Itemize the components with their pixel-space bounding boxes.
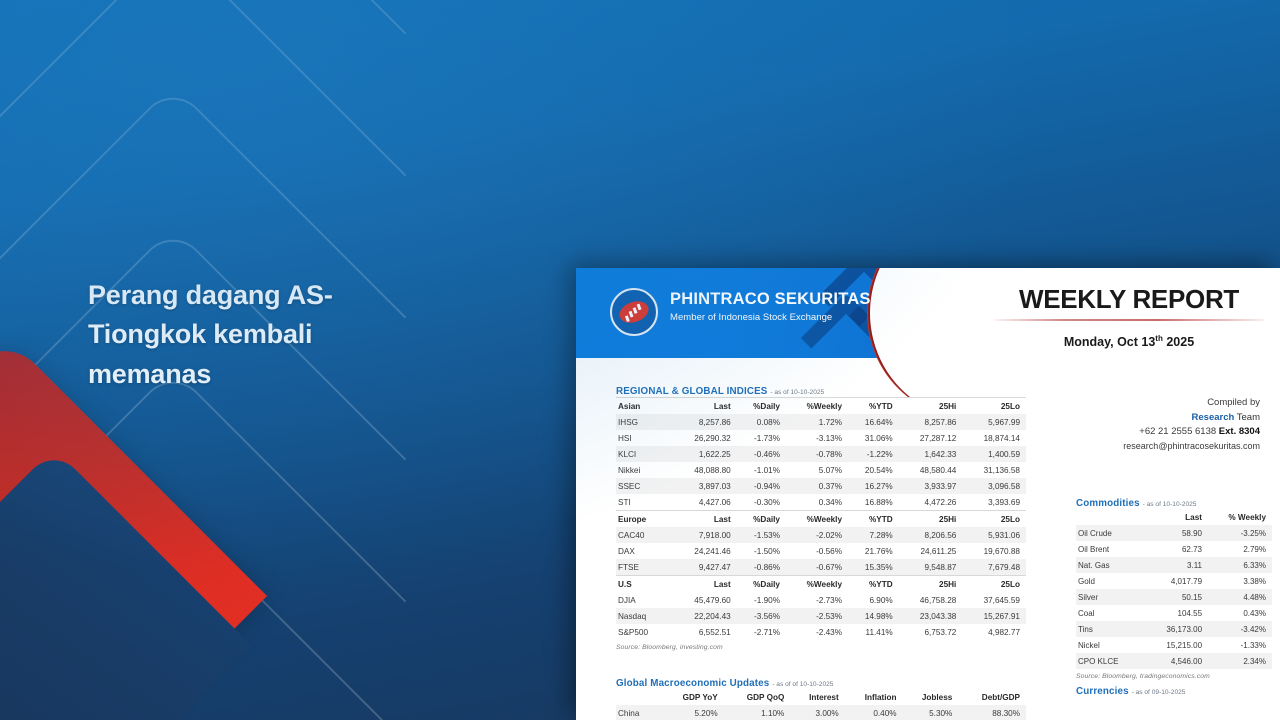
column-header: 25Hi bbox=[899, 576, 963, 593]
table-row: CPO KLCE4,546.002.34% bbox=[1076, 653, 1272, 669]
brand-block: PHINTRACO SEKURITAS Member of Indonesia … bbox=[670, 290, 871, 323]
cell-value: 1.10% bbox=[724, 705, 791, 720]
cell-value: 6.90% bbox=[848, 592, 899, 608]
macro-section-title: Global Macroeconomic Updates - as of of … bbox=[616, 678, 1026, 689]
column-header: U.S bbox=[616, 576, 673, 593]
column-header: Jobless bbox=[903, 689, 959, 705]
cell-value: 5,967.99 bbox=[962, 414, 1026, 430]
column-header bbox=[616, 689, 661, 705]
row-label: S&P500 bbox=[616, 624, 673, 640]
column-header: %Daily bbox=[737, 398, 786, 415]
row-label: CPO KLCE bbox=[1076, 653, 1147, 669]
indices-table: AsianLast%Daily%Weekly%YTD25Hi25LoIHSG8,… bbox=[616, 397, 1026, 640]
indices-section-title: REGIONAL & GLOBAL INDICES - as of 10-10-… bbox=[616, 386, 1026, 397]
cell-value: 45,479.60 bbox=[673, 592, 737, 608]
column-header: %Weekly bbox=[786, 398, 848, 415]
column-header: Last bbox=[673, 576, 737, 593]
commodities-table: Last% WeeklyOil Crude58.90-3.25%Oil Bren… bbox=[1076, 509, 1272, 669]
column-header: Last bbox=[673, 511, 737, 528]
cell-value: 7,918.00 bbox=[673, 527, 737, 543]
cell-value: 37,645.59 bbox=[962, 592, 1026, 608]
cell-value: -1.01% bbox=[737, 462, 786, 478]
cell-value: 1,622.25 bbox=[673, 446, 737, 462]
cell-value: -0.67% bbox=[786, 559, 848, 576]
column-header: Last bbox=[1147, 509, 1208, 525]
phone-number: +62 21 2555 6138 bbox=[1139, 426, 1216, 437]
cell-value: 9,427.47 bbox=[673, 559, 737, 576]
cell-value: 58.90 bbox=[1147, 525, 1208, 541]
cell-value: -2.71% bbox=[737, 624, 786, 640]
slide-canvas: Perang dagang AS-Tiongkok kembali memana… bbox=[0, 0, 1280, 720]
macro-section: Global Macroeconomic Updates - as of of … bbox=[616, 678, 1026, 720]
column-header: %Daily bbox=[737, 576, 786, 593]
cell-value: 104.55 bbox=[1147, 605, 1208, 621]
cell-value: -1.73% bbox=[737, 430, 786, 446]
team-label: Team bbox=[1237, 412, 1260, 423]
cell-value: 0.37% bbox=[786, 478, 848, 494]
column-header: Asian bbox=[616, 398, 673, 415]
cell-value: 46,758.28 bbox=[899, 592, 963, 608]
cell-value: -0.56% bbox=[786, 543, 848, 559]
cell-value: 31,136.58 bbox=[962, 462, 1026, 478]
cell-value: 31.06% bbox=[848, 430, 899, 446]
cell-value: 48,580.44 bbox=[899, 462, 963, 478]
cell-value: 19,670.88 bbox=[962, 543, 1026, 559]
cell-value: 88.30% bbox=[958, 705, 1026, 720]
cell-value: 18,874.14 bbox=[962, 430, 1026, 446]
row-label: Silver bbox=[1076, 589, 1147, 605]
row-label: Nat. Gas bbox=[1076, 557, 1147, 573]
row-label: CAC40 bbox=[616, 527, 673, 543]
commodities-section-title: Commodities - as of 10-10-2025 bbox=[1076, 498, 1272, 509]
cell-value: -2.43% bbox=[786, 624, 848, 640]
cell-value: 4,472.26 bbox=[899, 494, 963, 511]
cell-value: 14.98% bbox=[848, 608, 899, 624]
table-row: DJIA45,479.60-1.90%-2.73%6.90%46,758.283… bbox=[616, 592, 1026, 608]
cell-value: -0.46% bbox=[737, 446, 786, 462]
table-row: Oil Brent62.732.79% bbox=[1076, 541, 1272, 557]
macro-as-of: - as of of 10-10-2025 bbox=[772, 681, 833, 688]
column-header: %Daily bbox=[737, 511, 786, 528]
cell-value: 50.15 bbox=[1147, 589, 1208, 605]
cell-value: -1.22% bbox=[848, 446, 899, 462]
cell-value: 15,267.91 bbox=[962, 608, 1026, 624]
cell-value: -2.53% bbox=[786, 608, 848, 624]
currencies-title-text: Currencies bbox=[1076, 686, 1129, 697]
currencies-section-title: Currencies - as of 09-10-2025 bbox=[1076, 686, 1272, 697]
ext-value: 8304 bbox=[1239, 426, 1260, 437]
cell-value: 3.38% bbox=[1208, 573, 1272, 589]
cell-value: 8,206.56 bbox=[899, 527, 963, 543]
cell-value: 11.41% bbox=[848, 624, 899, 640]
cell-value: 24,611.25 bbox=[899, 543, 963, 559]
cell-value: 20.54% bbox=[848, 462, 899, 478]
report-title: WEEKLY REPORT bbox=[988, 284, 1270, 315]
cell-value: 0.08% bbox=[737, 414, 786, 430]
cell-value: -0.30% bbox=[737, 494, 786, 511]
commodities-header-row: Last% Weekly bbox=[1076, 509, 1272, 525]
commodities-as-of: - as of 10-10-2025 bbox=[1143, 501, 1197, 508]
cell-value: 4,427.06 bbox=[673, 494, 737, 511]
cell-value: 62.73 bbox=[1147, 541, 1208, 557]
table-row: DAX24,241.46-1.50%-0.56%21.76%24,611.251… bbox=[616, 543, 1026, 559]
cell-value: 3,933.97 bbox=[899, 478, 963, 494]
table-row: STI4,427.06-0.30%0.34%16.88%4,472.263,39… bbox=[616, 494, 1026, 511]
cell-value: 16.27% bbox=[848, 478, 899, 494]
report-date-superscript: th bbox=[1155, 334, 1163, 343]
column-header: %YTD bbox=[848, 576, 899, 593]
cell-value: 0.40% bbox=[845, 705, 903, 720]
cell-value: 23,043.38 bbox=[899, 608, 963, 624]
cell-value: 15,215.00 bbox=[1147, 637, 1208, 653]
cell-value: 3.11 bbox=[1147, 557, 1208, 573]
cell-value: 24,241.46 bbox=[673, 543, 737, 559]
column-header: Interest bbox=[790, 689, 844, 705]
column-header: 25Lo bbox=[962, 398, 1026, 415]
row-label: China bbox=[616, 705, 661, 720]
row-label: Gold bbox=[1076, 573, 1147, 589]
cell-value: -0.94% bbox=[737, 478, 786, 494]
report-date: Monday, Oct 13th 2025 bbox=[988, 334, 1270, 349]
macro-table: GDP YoYGDP QoQInterestInflationJoblessDe… bbox=[616, 689, 1026, 720]
column-header: %Weekly bbox=[786, 511, 848, 528]
column-header: %YTD bbox=[848, 511, 899, 528]
cell-value: -3.56% bbox=[737, 608, 786, 624]
report-date-year: 2025 bbox=[1166, 335, 1194, 349]
indices-group-header: AsianLast%Daily%Weekly%YTD25Hi25Lo bbox=[616, 398, 1026, 415]
row-label: IHSG bbox=[616, 414, 673, 430]
cell-value: -0.78% bbox=[786, 446, 848, 462]
column-header: 25Hi bbox=[899, 398, 963, 415]
commodities-title-text: Commodities bbox=[1076, 498, 1140, 509]
cell-value: 1,642.33 bbox=[899, 446, 963, 462]
table-row: Tins36,173.00-3.42% bbox=[1076, 621, 1272, 637]
row-label: Nikkei bbox=[616, 462, 673, 478]
cell-value: 4,546.00 bbox=[1147, 653, 1208, 669]
table-row: Coal104.550.43% bbox=[1076, 605, 1272, 621]
macro-title-text: Global Macroeconomic Updates bbox=[616, 678, 769, 689]
cell-value: -2.02% bbox=[786, 527, 848, 543]
cell-value: -0.86% bbox=[737, 559, 786, 576]
indices-group-header: EuropeLast%Daily%Weekly%YTD25Hi25Lo bbox=[616, 511, 1026, 528]
row-label: DJIA bbox=[616, 592, 673, 608]
table-row: Nasdaq22,204.43-3.56%-2.53%14.98%23,043.… bbox=[616, 608, 1026, 624]
row-label: Coal bbox=[1076, 605, 1147, 621]
cell-value: -3.42% bbox=[1208, 621, 1272, 637]
cell-value: 5.20% bbox=[661, 705, 724, 720]
cell-value: 16.88% bbox=[848, 494, 899, 511]
cell-value: -2.73% bbox=[786, 592, 848, 608]
column-header: Last bbox=[673, 398, 737, 415]
row-label: HSI bbox=[616, 430, 673, 446]
cell-value: 5.30% bbox=[903, 705, 959, 720]
cell-value: 5.07% bbox=[786, 462, 848, 478]
column-header: % Weekly bbox=[1208, 509, 1272, 525]
table-row: Oil Crude58.90-3.25% bbox=[1076, 525, 1272, 541]
cell-value: 2.79% bbox=[1208, 541, 1272, 557]
row-label: STI bbox=[616, 494, 673, 511]
title-underline bbox=[994, 319, 1264, 321]
row-label: Tins bbox=[1076, 621, 1147, 637]
table-row: KLCI1,622.25-0.46%-0.78%-1.22%1,642.331,… bbox=[616, 446, 1026, 462]
phintraco-logo-icon bbox=[610, 288, 658, 336]
table-row: S&P5006,552.51-2.71%-2.43%11.41%6,753.72… bbox=[616, 624, 1026, 640]
logo-ellipse-shape bbox=[616, 297, 651, 326]
cell-value: 15.35% bbox=[848, 559, 899, 576]
table-row: FTSE9,427.47-0.86%-0.67%15.35%9,548.877,… bbox=[616, 559, 1026, 576]
cell-value: 6.33% bbox=[1208, 557, 1272, 573]
column-header: Inflation bbox=[845, 689, 903, 705]
column-header: %Weekly bbox=[786, 576, 848, 593]
commodities-section: Commodities - as of 10-10-2025 Last% Wee… bbox=[1076, 498, 1272, 680]
indices-as-of: - as of 10-10-2025 bbox=[770, 389, 824, 396]
cell-value: 27,287.12 bbox=[899, 430, 963, 446]
column-header: %YTD bbox=[848, 398, 899, 415]
table-row: Nat. Gas3.116.33% bbox=[1076, 557, 1272, 573]
column-header: 25Lo bbox=[962, 511, 1026, 528]
cell-value: 3,096.58 bbox=[962, 478, 1026, 494]
cell-value: 4,017.79 bbox=[1147, 573, 1208, 589]
table-row: SSEC3,897.03-0.94%0.37%16.27%3,933.973,0… bbox=[616, 478, 1026, 494]
cell-value: -1.50% bbox=[737, 543, 786, 559]
column-header: 25Hi bbox=[899, 511, 963, 528]
cell-value: 36,173.00 bbox=[1147, 621, 1208, 637]
research-label: Research bbox=[1192, 412, 1235, 423]
cell-value: 5,931.06 bbox=[962, 527, 1026, 543]
indices-title-text: REGIONAL & GLOBAL INDICES bbox=[616, 386, 767, 397]
row-label: Nickel bbox=[1076, 637, 1147, 653]
cell-value: 21.76% bbox=[848, 543, 899, 559]
row-label: Nasdaq bbox=[616, 608, 673, 624]
table-row: HSI26,290.32-1.73%-3.13%31.06%27,287.121… bbox=[616, 430, 1026, 446]
cell-value: 48,088.80 bbox=[673, 462, 737, 478]
cell-value: 26,290.32 bbox=[673, 430, 737, 446]
table-row: CAC407,918.00-1.53%-2.02%7.28%8,206.565,… bbox=[616, 527, 1026, 543]
cell-value: 4.48% bbox=[1208, 589, 1272, 605]
cell-value: 22,204.43 bbox=[673, 608, 737, 624]
cell-value: 0.34% bbox=[786, 494, 848, 511]
report-date-prefix: Monday, Oct 13 bbox=[1064, 335, 1155, 349]
table-row: Gold4,017.793.38% bbox=[1076, 573, 1272, 589]
cell-value: -1.33% bbox=[1208, 637, 1272, 653]
cell-value: 3,897.03 bbox=[673, 478, 737, 494]
brand-subtitle: Member of Indonesia Stock Exchange bbox=[670, 312, 871, 323]
currencies-as-of: - as of 09-10-2025 bbox=[1132, 689, 1186, 696]
indices-group-header: U.SLast%Daily%Weekly%YTD25Hi25Lo bbox=[616, 576, 1026, 593]
row-label: Oil Brent bbox=[1076, 541, 1147, 557]
table-row: IHSG8,257.860.08%1.72%16.64%8,257.865,96… bbox=[616, 414, 1026, 430]
cell-value: -1.53% bbox=[737, 527, 786, 543]
weekly-report-document[interactable]: PHINTRACO SEKURITAS Member of Indonesia … bbox=[576, 268, 1280, 720]
cell-value: 16.64% bbox=[848, 414, 899, 430]
row-label: FTSE bbox=[616, 559, 673, 576]
cell-value: -3.13% bbox=[786, 430, 848, 446]
column-header: Europe bbox=[616, 511, 673, 528]
cell-value: 8,257.86 bbox=[673, 414, 737, 430]
cell-value: 3.00% bbox=[790, 705, 844, 720]
slide-headline: Perang dagang AS-Tiongkok kembali memana… bbox=[88, 276, 438, 394]
column-header: GDP QoQ bbox=[724, 689, 791, 705]
macro-header-row: GDP YoYGDP QoQInterestInflationJoblessDe… bbox=[616, 689, 1026, 705]
table-row: Silver50.154.48% bbox=[1076, 589, 1272, 605]
column-header: Debt/GDP bbox=[958, 689, 1026, 705]
cell-value: 2.34% bbox=[1208, 653, 1272, 669]
table-row: Nickel15,215.00-1.33% bbox=[1076, 637, 1272, 653]
cell-value: 6,552.51 bbox=[673, 624, 737, 640]
row-label: SSEC bbox=[616, 478, 673, 494]
cell-value: 6,753.72 bbox=[899, 624, 963, 640]
row-label: KLCI bbox=[616, 446, 673, 462]
currencies-section: Currencies - as of 09-10-2025 bbox=[1076, 686, 1272, 697]
row-label: Oil Crude bbox=[1076, 525, 1147, 541]
cell-value: 4,982.77 bbox=[962, 624, 1026, 640]
indices-source: Source: Bloomberg, investing.com bbox=[616, 644, 1026, 651]
indices-section: REGIONAL & GLOBAL INDICES - as of 10-10-… bbox=[616, 386, 1026, 651]
column-header: GDP YoY bbox=[661, 689, 724, 705]
commodities-source: Source: Bloomberg, tradingeconomics.com bbox=[1076, 673, 1272, 680]
column-header: 25Lo bbox=[962, 576, 1026, 593]
ext-label: Ext. bbox=[1219, 426, 1236, 437]
cell-value: 3,393.69 bbox=[962, 494, 1026, 511]
cell-value: 8,257.86 bbox=[899, 414, 963, 430]
row-label: DAX bbox=[616, 543, 673, 559]
cell-value: 1,400.59 bbox=[962, 446, 1026, 462]
cell-value: 9,548.87 bbox=[899, 559, 963, 576]
cell-value: -3.25% bbox=[1208, 525, 1272, 541]
table-row: China5.20%1.10%3.00%0.40%5.30%88.30% bbox=[616, 705, 1026, 720]
cell-value: -1.90% bbox=[737, 592, 786, 608]
column-header bbox=[1076, 509, 1147, 525]
brand-name: PHINTRACO SEKURITAS bbox=[670, 290, 871, 309]
cell-value: 1.72% bbox=[786, 414, 848, 430]
table-row: Nikkei48,088.80-1.01%5.07%20.54%48,580.4… bbox=[616, 462, 1026, 478]
report-title-block: WEEKLY REPORT Monday, Oct 13th 2025 bbox=[988, 284, 1270, 349]
cell-value: 7.28% bbox=[848, 527, 899, 543]
cell-value: 7,679.48 bbox=[962, 559, 1026, 576]
cell-value: 0.43% bbox=[1208, 605, 1272, 621]
